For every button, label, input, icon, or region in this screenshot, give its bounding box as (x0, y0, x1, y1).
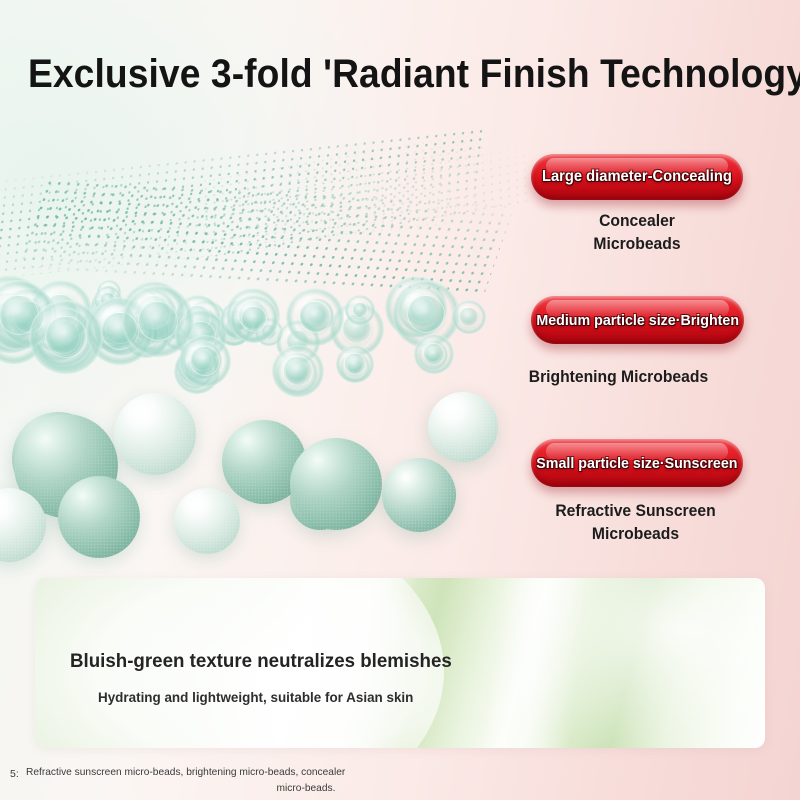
feature-pill-label: Medium particle size·Brighten (536, 312, 739, 329)
gel-microbead (179, 335, 231, 387)
page-title: Exclusive 3-fold 'Radiant Finish Technol… (28, 52, 772, 97)
gel-microbead (345, 295, 375, 325)
gel-microbead (452, 300, 486, 334)
matte-sphere (174, 488, 240, 554)
feature-pill-label: Small particle size·Sunscreen (536, 455, 737, 472)
footnote-line-1: Refractive sunscreen micro-beads, bright… (26, 766, 569, 778)
halftone-dot-wave-icon (0, 127, 484, 283)
gel-microbead (29, 300, 103, 374)
gel-microbead (272, 345, 324, 397)
footnote-marker: 5: (10, 768, 19, 780)
gel-microbead (230, 295, 278, 343)
feature-caption-brightening: Brightening Microbeads (529, 366, 748, 389)
texture-panel-subhead: Hydrating and lightweight, suitable for … (98, 689, 413, 705)
feature-pill-brighten[interactable]: Medium particle size·Brighten (531, 296, 744, 344)
feature-caption-concealer: Concealer Microbeads (536, 210, 737, 256)
matte-sphere (114, 393, 196, 475)
gel-microbead (414, 334, 454, 374)
halftone-dot-wave-secondary-icon (14, 178, 516, 296)
matte-sphere (382, 458, 456, 532)
matte-sphere (428, 392, 498, 462)
footnote-line-2: micro-beads. (34, 782, 577, 794)
matte-sphere (58, 476, 140, 558)
texture-panel-headline: Bluish-green texture neutralizes blemish… (70, 650, 452, 673)
feature-pill-sunscreen[interactable]: Small particle size·Sunscreen (531, 439, 743, 487)
feature-pill-concealing[interactable]: Large diameter-Concealing (531, 154, 743, 200)
feature-caption-refractive-sunscreen: Refractive Sunscreen Microbeads (533, 500, 737, 546)
matte-sphere (290, 438, 382, 530)
gel-microbead (336, 345, 374, 383)
halftone-dot-wave-tertiary-icon (201, 121, 529, 259)
product-feature-poster: Exclusive 3-fold 'Radiant Finish Technol… (0, 0, 800, 800)
feature-pill-label: Large diameter-Concealing (542, 168, 732, 186)
gel-microbead (286, 288, 344, 346)
